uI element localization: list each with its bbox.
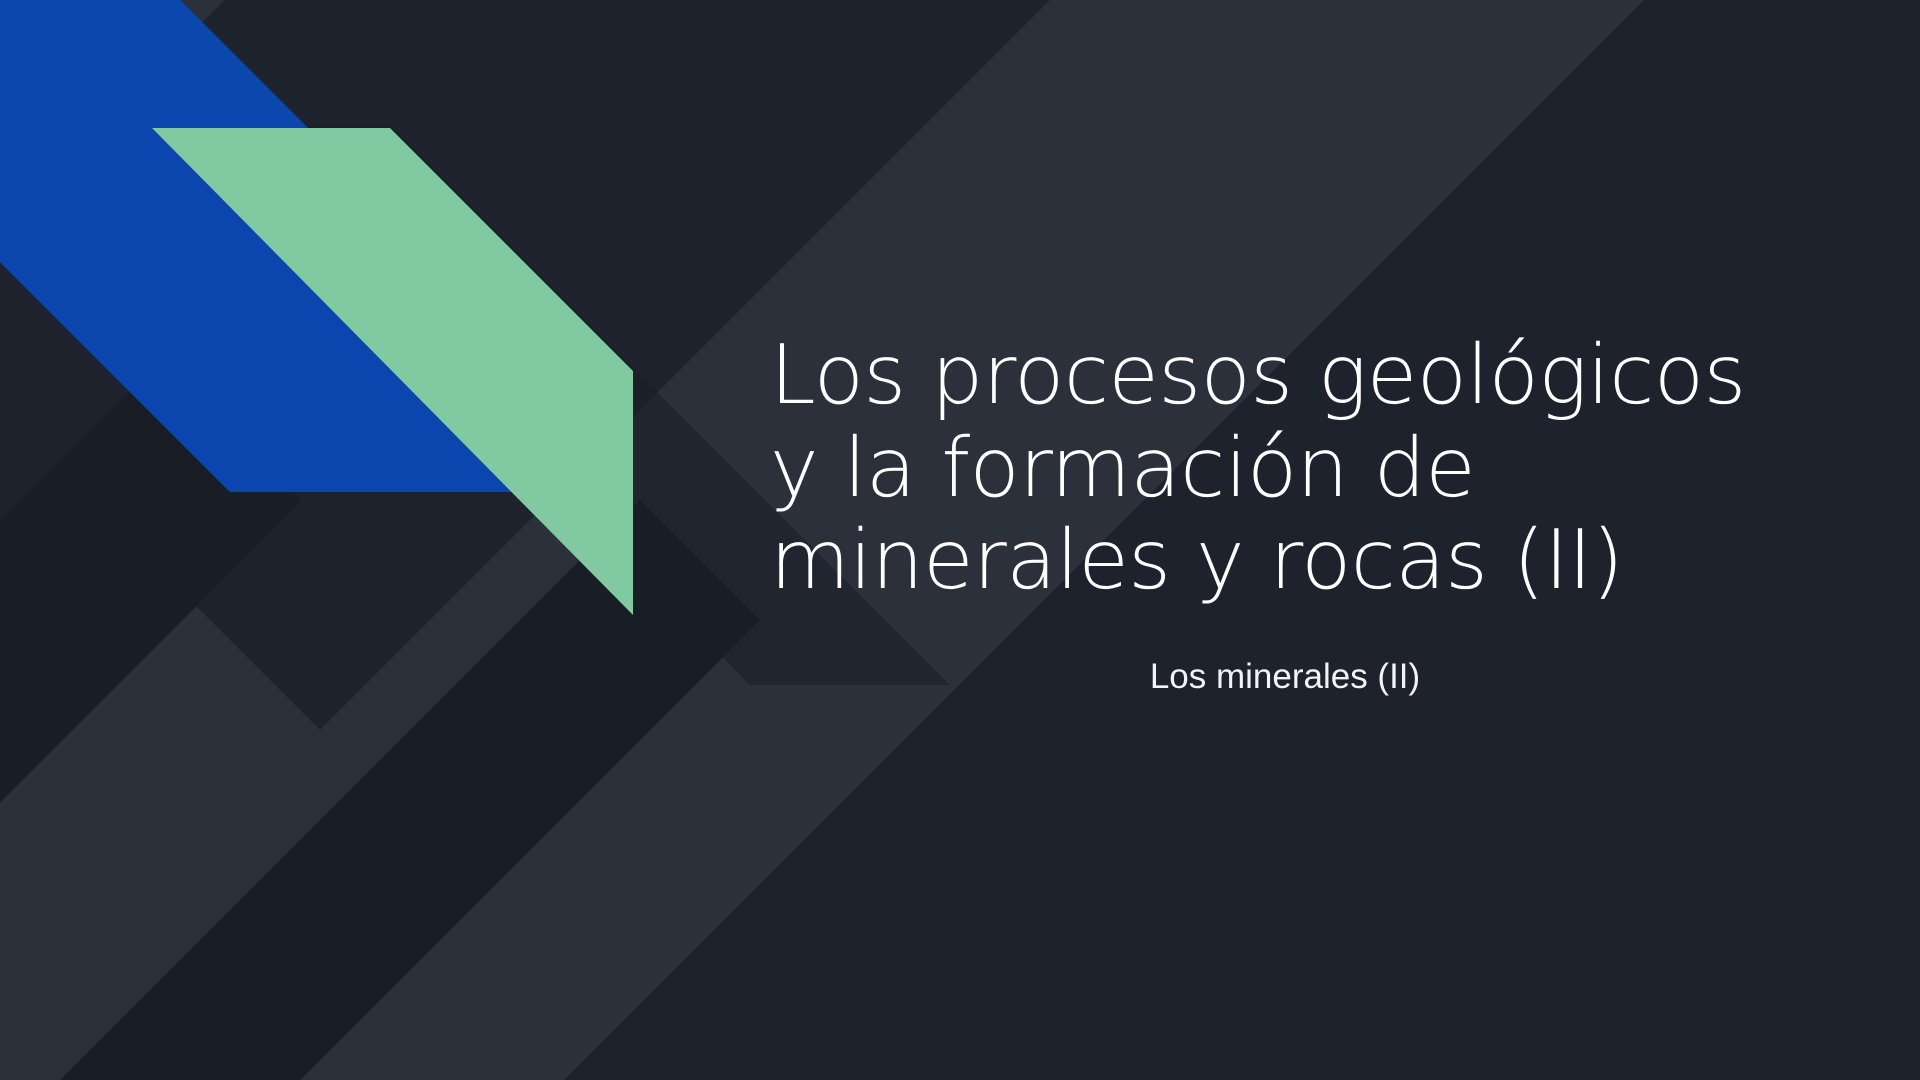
title-text-block: Los procesos geológicos y la formación d… bbox=[770, 330, 1800, 698]
page-title: Los procesos geológicos y la formación d… bbox=[770, 330, 1800, 608]
title-slide: Los procesos geológicos y la formación d… bbox=[0, 0, 1920, 1080]
slide-subtitle: Los minerales (II) bbox=[770, 608, 1800, 698]
